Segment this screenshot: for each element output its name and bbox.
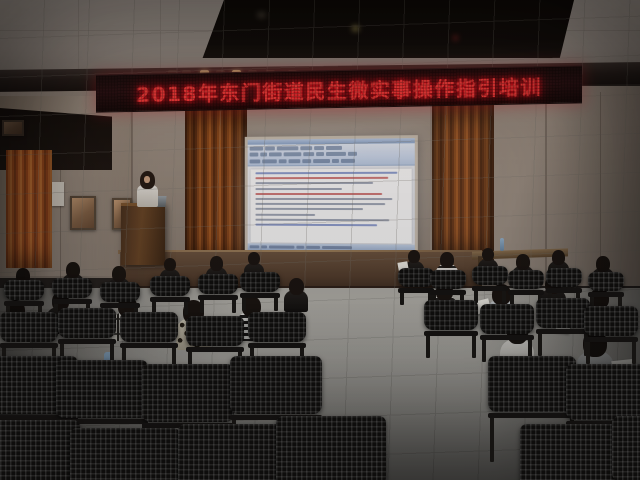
attendee-head <box>66 262 80 278</box>
chair-seat-rail <box>398 288 434 293</box>
chair-backrest <box>100 282 140 302</box>
chair-backrest <box>0 420 80 480</box>
chair-seat-rail <box>240 293 280 298</box>
chair-seat-rail <box>588 292 624 297</box>
chair-backrest <box>198 274 238 294</box>
chair-backrest <box>566 364 640 420</box>
chair-backrest <box>612 416 640 480</box>
chair-leg <box>490 414 494 462</box>
chair-backrest <box>70 428 180 480</box>
attendee-head <box>596 256 610 272</box>
chair-backrest <box>120 312 178 342</box>
chair-seat-rail <box>584 337 638 342</box>
chair-backrest <box>276 416 386 480</box>
attendee-head <box>289 278 304 295</box>
banner-text: 2018年东门街道民生微实事操作指引培训 <box>136 71 542 108</box>
chair <box>584 306 638 370</box>
chair-backrest <box>230 356 322 414</box>
attendee-head <box>552 250 565 265</box>
chair <box>520 424 624 480</box>
attendee-head <box>516 254 530 270</box>
chair-backrest <box>430 270 466 289</box>
chair-backrest <box>248 312 306 342</box>
chair-seat-rail <box>472 286 508 291</box>
chair-backrest <box>178 424 288 480</box>
chair-seat-rail <box>0 343 58 348</box>
chair-seat-rail <box>150 297 190 302</box>
chair-backrest <box>56 360 148 418</box>
chair-seat-rail <box>120 343 178 348</box>
chair-seat-rail <box>198 295 238 300</box>
attendee-head <box>210 256 223 271</box>
chair-seat-rail <box>52 299 92 304</box>
chair-backrest <box>508 270 544 289</box>
chair-backrest <box>4 280 44 300</box>
chair-seat-rail <box>430 290 466 295</box>
chair-seat-rail <box>508 290 544 295</box>
chair <box>178 424 288 480</box>
chair-backrest <box>424 300 478 330</box>
chair <box>70 428 180 480</box>
chair-backrest <box>142 364 234 422</box>
chair-seat-rail <box>4 301 44 306</box>
chair-backrest <box>480 304 534 334</box>
chair <box>612 416 640 480</box>
chair-backrest <box>472 266 508 285</box>
chair-seat-rail <box>546 288 582 293</box>
chair-backrest <box>186 316 244 346</box>
chair-backrest <box>52 278 92 298</box>
chair-backrest <box>546 268 582 287</box>
chair-backrest <box>520 424 624 480</box>
chair <box>536 298 590 362</box>
attendee-head <box>482 248 494 261</box>
chair-backrest <box>398 268 434 287</box>
chair-backrest <box>588 272 624 291</box>
attendee-head <box>248 252 260 265</box>
chair <box>0 420 80 480</box>
chair-backrest <box>584 306 638 336</box>
chair-backrest <box>0 312 58 342</box>
chair-backrest <box>240 272 280 292</box>
chair-seat-rail <box>58 339 116 344</box>
chair-seat-rail <box>248 343 306 348</box>
attendee-head <box>112 266 126 282</box>
chair-seat-rail <box>186 347 244 352</box>
chair-backrest <box>536 298 590 328</box>
chair <box>276 416 386 480</box>
chair-backrest <box>150 276 190 296</box>
chair-seat-rail <box>480 335 534 340</box>
attendee-head <box>408 250 420 263</box>
chair-seat-rail <box>488 413 576 418</box>
chair <box>424 300 478 364</box>
chair-backrest <box>58 308 116 338</box>
chair-seat-rail <box>536 329 590 334</box>
meeting-room-photo: 2018年东门街道民生微实事操作指引培训 <box>0 0 640 480</box>
chair-seat-rail <box>424 331 478 336</box>
chair-backrest <box>488 356 576 412</box>
attendee-head <box>440 252 454 268</box>
attendee-head <box>164 258 176 271</box>
